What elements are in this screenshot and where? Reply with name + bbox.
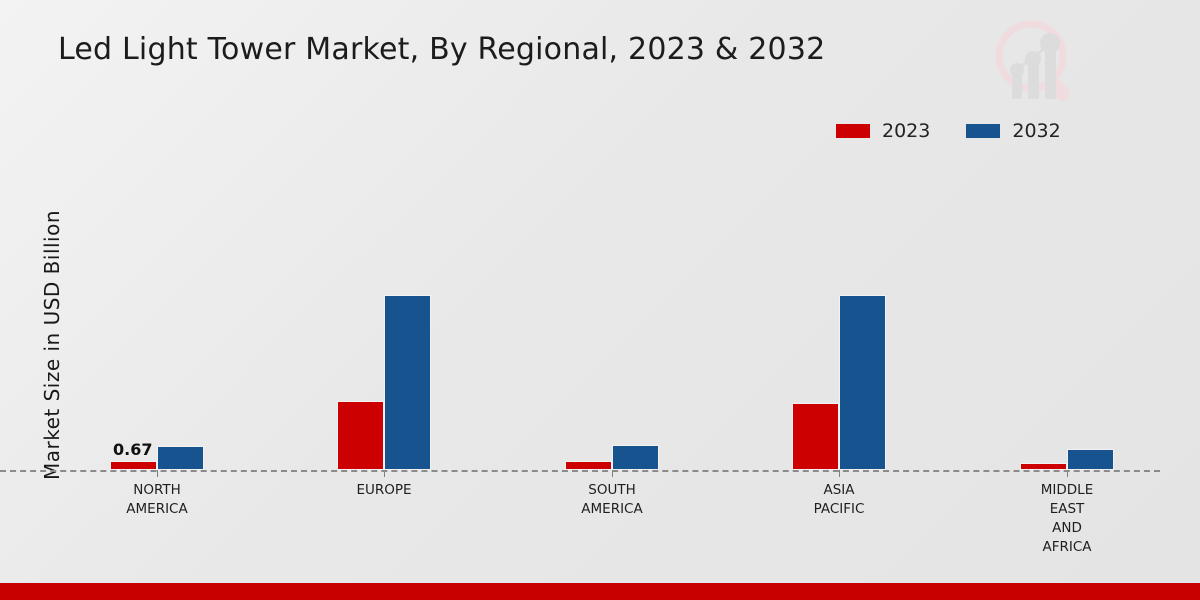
category-label-north-america: NORTH AMERICA [62, 481, 252, 519]
bar-pair [1020, 0, 1114, 470]
category-axis-line [0, 470, 1160, 472]
bar-europe-2023[interactable] [337, 401, 384, 470]
category-label-line: NORTH [62, 481, 252, 500]
bar-middle-east-and-africa-2032[interactable] [1067, 449, 1114, 470]
bar-asia-pacific-2023[interactable] [792, 403, 839, 470]
category-label-south-america: SOUTH AMERICA [517, 481, 707, 519]
bar-pair [792, 0, 886, 470]
bar-middle-east-and-africa-2023[interactable] [1020, 463, 1067, 470]
bar-north-america-2023[interactable] [110, 461, 157, 470]
category-label-middle-east-and-africa: MIDDLE EAST AND AFRICA [972, 481, 1162, 557]
category-label-line: AMERICA [517, 500, 707, 519]
category-label-line: AND [972, 519, 1162, 538]
category-label-line: SOUTH [517, 481, 707, 500]
category-label-line: AFRICA [972, 538, 1162, 557]
bar-pair [110, 0, 204, 470]
bar-europe-2032[interactable] [384, 295, 431, 470]
category-label-line: PACIFIC [744, 500, 934, 519]
data-label-north-america-2023: 0.67 [113, 440, 152, 459]
category-label-line: EAST [972, 500, 1162, 519]
bar-asia-pacific-2032[interactable] [839, 295, 886, 470]
bar-south-america-2032[interactable] [612, 445, 659, 470]
footer-accent-bar [0, 583, 1200, 600]
category-label-europe: EUROPE [289, 481, 479, 500]
bar-south-america-2023[interactable] [565, 461, 612, 470]
bar-pair [565, 0, 659, 470]
bar-north-america-2032[interactable] [157, 446, 204, 470]
category-label-line: MIDDLE [972, 481, 1162, 500]
bar-pair [337, 0, 431, 470]
category-label-line: AMERICA [62, 500, 252, 519]
category-label-asia-pacific: ASIA PACIFIC [744, 481, 934, 519]
chart-container: Led Light Tower Market, By Regional, 202… [0, 0, 1200, 600]
plot-area: 0.67 NORTH AMERICA EUROPE SOUTH AM [0, 0, 1200, 470]
category-label-line: EUROPE [289, 481, 479, 500]
category-label-line: ASIA [744, 481, 934, 500]
